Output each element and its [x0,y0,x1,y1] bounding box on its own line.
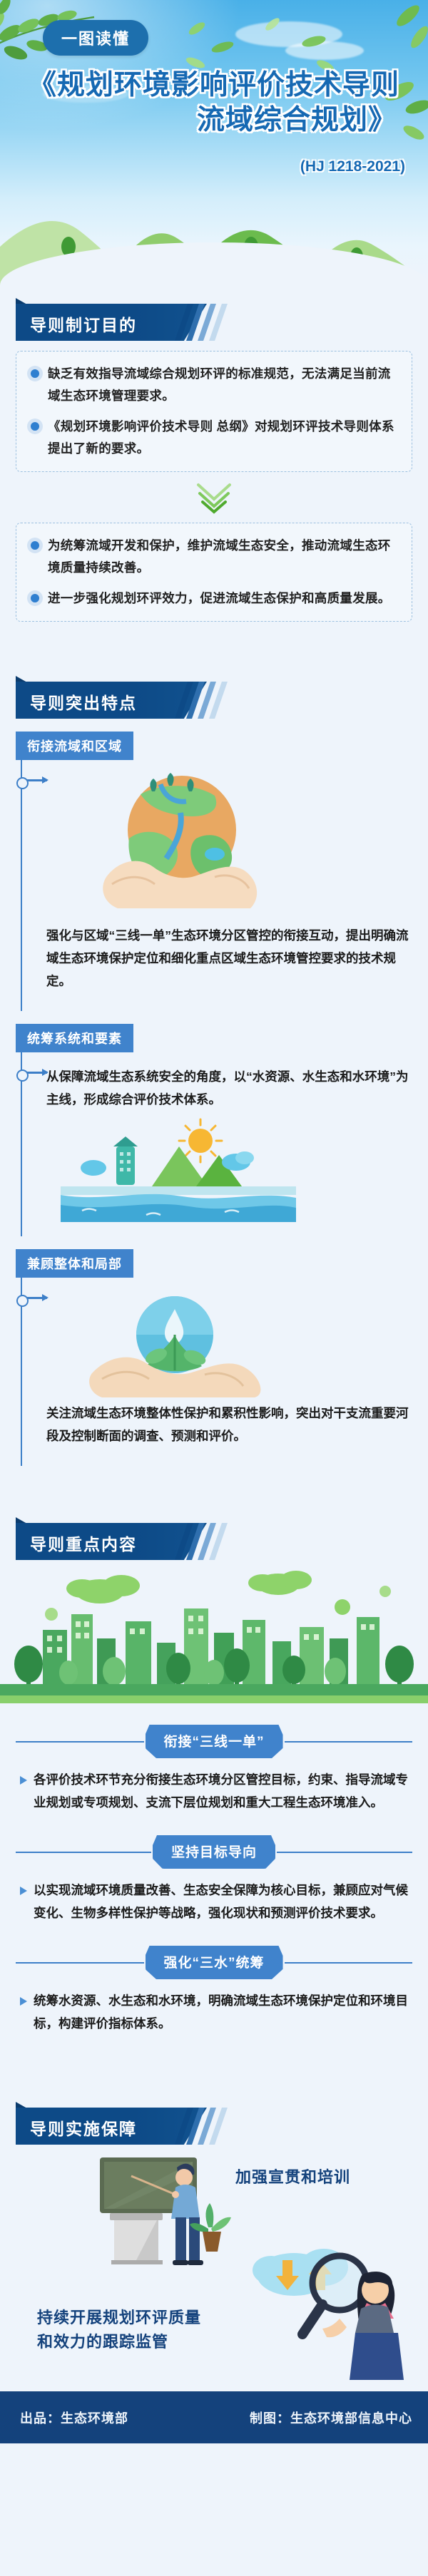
divider-line [16,1852,151,1853]
list-item: 《规划环境影响评价技术导则 总纲》对规划环评技术导则体系提出了新的要求。 [28,416,399,460]
divider [0,472,428,521]
divider-line [285,1741,413,1743]
key-content-divider-3: 强化“三水”统筹 [16,1946,412,1979]
bullet-text: 统筹水资源、水生态和水环境，明确流域生态环境保护定位和环境目标，构建评价指标体系… [34,1989,412,2035]
implementation-caption-2: 持续开展规划环评质量 和效力的跟踪监管 [37,2306,201,2354]
feature-tag: 统筹系统和要素 [16,1024,133,1052]
title-line-1: 《规划环境影响评价技术导则 [29,70,399,101]
feature-text: 关注流域生态环境整体性保护和累积性影响，突出对干支流重要河段及控制断面的调查、预… [46,1402,412,1447]
triangle-bullet-icon [20,1887,27,1895]
list-item: 缺乏有效指导流域综合规划环评的标准规范，无法满足当前流域生态环境管理要求。 [28,363,399,407]
standard-code: (HJ 1218-2021) [0,158,428,175]
bullet-dot-icon [31,422,39,431]
list-item: 进一步强化规划环评效力，促进流域生态保护和高质量发展。 [28,587,399,610]
bullet-dot-icon [31,369,39,378]
section-header: 导则重点内容 [16,1523,207,1560]
section-key-content: 导则重点内容 [0,1523,428,2089]
section-header-notch [16,676,27,682]
purpose-problem-box: 缺乏有效指导流域综合规划环评的标准规范，无法满足当前流域生态环境管理要求。 《规… [16,351,412,472]
feature-item-3: 兼顾整体和局部 [16,1249,412,1466]
section-title: 导则制订目的 [30,312,137,336]
implementation-illustration: 加强宣贯和培训 [0,2152,428,2387]
section-header: 导则突出特点 [16,682,207,719]
list-item: 各评价技术环节充分衔接生态环境分区管控目标，约束、指导流域专业规划或专项规划、支… [16,1768,412,1814]
bullet-text: 《规划环境影响评价技术导则 总纲》对规划环评技术导则体系提出了新的要求。 [48,416,399,460]
infographic-page: 一图读懂 《规划环境影响评价技术导则 流域综合规划》 (HJ 1218-2021… [0,0,428,2443]
triangle-bullet-icon [20,1997,27,2006]
page-title: 《规划环境影响评价技术导则 流域综合规划》 [0,68,428,138]
feature-text: 强化与区域“三线一单”生态环境分区管控的衔接互动，提出明确流域生态环境保护定位和… [46,924,412,992]
feature-tag: 兼顾整体和局部 [16,1249,133,1278]
bullet-dot-icon [31,594,39,602]
key-content-pill: 强化“三水”统筹 [146,1946,283,1979]
list-item: 以实现流域环境质量改善、生态安全保障为核心目标，兼顾应对气候变化、生物多样性保护… [16,1879,412,1924]
section-header-slashes [177,2108,237,2145]
footer: 出品：生态环境部 制图：生态环境部信息中心 [0,2391,428,2443]
bullet-text: 为统筹流域开发和保护，维护流域生态安全，推动流域生态环境质量持续改善。 [48,535,399,579]
key-content-pill: 坚持目标导向 [153,1835,275,1869]
feature-body: 关注流域生态环境整体性保护和累积性影响，突出对干支流重要河段及控制断面的调查、预… [21,1278,412,1466]
section-purpose: 导则制订目的 缺乏有效指导流域综合规划环评的标准规范，无法满足当前流域生态环境管… [0,304,428,663]
divider-line [285,1962,413,1964]
bullet-dot-icon [31,541,39,550]
earth-in-hands-icon [46,770,412,920]
river-landscape-icon [46,1111,412,1218]
green-city-skyline-icon [0,1564,428,1703]
footer-producer: 出品：生态环境部 [20,2408,128,2427]
feature-body: 从保障流域生态系统安全的角度，以“水资源、水生态和水环境”为主线，形成综合评价技… [21,1052,412,1236]
key-content-pill: 衔接“三线一单” [146,1725,283,1758]
section-header: 导则制订目的 [16,304,207,341]
purpose-goal-box: 为统筹流域开发和保护，维护流域生态安全，推动流域生态环境质量持续改善。 进一步强… [16,523,412,622]
feature-tag: 衔接流域和区域 [16,732,133,760]
implementation-caption-1: 加强宣贯和培训 [235,2165,350,2187]
section-header-notch [16,1517,27,1524]
hands-holding-water-icon [46,1290,412,1397]
title-line-2: 流域综合规划》 [19,103,409,138]
arrow-right-icon [27,1072,47,1074]
section-header-slashes [177,1523,237,1560]
footer-designer: 制图：生态环境部信息中心 [250,2408,412,2427]
divider-line [277,1852,412,1853]
key-content-divider-1: 衔接“三线一单” [16,1725,412,1758]
triangle-bullet-icon [20,1776,27,1785]
section-title: 导则突出特点 [30,689,137,714]
list-item: 为统筹流域开发和保护，维护流域生态安全，推动流域生态环境质量持续改善。 [28,535,399,579]
bullet-text: 缺乏有效指导流域综合规划环评的标准规范，无法满足当前流域生态环境管理要求。 [48,363,399,407]
feature-body: 强化与区域“三线一单”生态环境分区管控的衔接互动，提出明确流域生态环境保护定位和… [21,760,412,1011]
double-chevron-down-icon [193,482,235,515]
bullet-text: 以实现流域环境质量改善、生态安全保障为核心目标，兼顾应对气候变化、生物多样性保护… [34,1879,412,1924]
feature-text: 从保障流域生态系统安全的角度，以“水资源、水生态和水环境”为主线，形成综合评价技… [46,1065,412,1111]
hero-banner: 一图读懂 《规划环境影响评价技术导则 流域综合规划》 (HJ 1218-2021… [0,0,428,285]
read-in-one-picture-badge: 一图读懂 [43,20,148,56]
feature-item-2: 统筹系统和要素 从保障流域生态系统安全的角度，以“水资源、水生态和水环境”为主线… [16,1024,412,1236]
divider-line [16,1962,144,1964]
woman-with-magnifier-icon [240,2230,425,2380]
section-implementation: 导则实施保障 [0,2108,428,2391]
section-header-slashes [177,304,237,341]
bullet-text: 进一步强化规划环评效力，促进流域生态保护和高质量发展。 [48,587,391,610]
feature-item-1: 衔接流域和区域 [16,732,412,1011]
key-content-divider-2: 坚持目标导向 [16,1835,412,1869]
section-title: 导则实施保障 [30,2115,137,2140]
section-header-slashes [177,682,237,719]
divider-line [16,1741,144,1743]
list-item: 统筹水资源、水生态和水环境，明确流域生态环境保护定位和环境目标，构建评价指标体系… [16,1989,412,2035]
section-features: 导则突出特点 衔接流域和区域 [0,682,428,1504]
section-header-notch [16,2102,27,2108]
bullet-text: 各评价技术环节充分衔接生态环境分区管控目标，约束、指导流域专业规划或专项规划、支… [34,1768,412,1814]
arrow-right-icon [27,779,47,781]
arrow-right-icon [27,1297,47,1299]
section-title: 导则重点内容 [30,1531,137,1555]
section-header-notch [16,298,27,304]
section-header: 导则实施保障 [16,2108,207,2145]
